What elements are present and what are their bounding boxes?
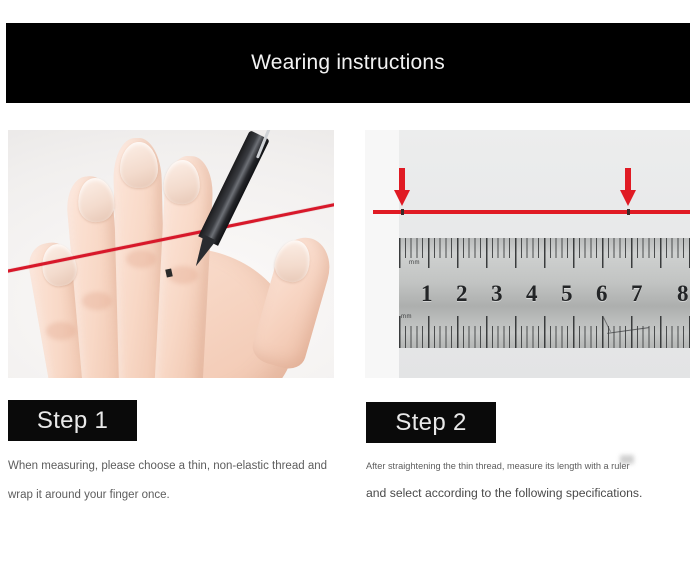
ruler-number-row: 1 2 3 4 5 6 7 8 xyxy=(399,272,690,316)
ruler-unit-label-top: mm xyxy=(409,260,420,266)
arrow-stem xyxy=(625,168,631,192)
step-2-badge-label: Step 2 xyxy=(395,409,466,437)
step-1-column xyxy=(8,130,334,378)
knuckle-crease xyxy=(126,250,156,268)
step-2-caption-line-1: After straightening the thin thread, mea… xyxy=(366,461,630,472)
ruler-number: 2 xyxy=(456,281,468,307)
ruler-number: 4 xyxy=(526,281,538,307)
step-2-column: mm mm 1 2 3 4 5 6 7 8 xyxy=(365,130,690,378)
wearing-instructions-banner: Wearing instructions xyxy=(6,23,690,103)
step-1-caption-line-1: When measuring, please choose a thin, no… xyxy=(8,460,327,474)
thread-endpoint-mark xyxy=(401,209,404,215)
straightened-thread-line xyxy=(373,210,690,214)
step-2-caption-line-2: and select according to the following sp… xyxy=(366,486,642,501)
ruler-number: 5 xyxy=(561,281,573,307)
ruler-major-ticks-top xyxy=(399,238,690,268)
arrow-head xyxy=(620,190,636,206)
arrow-stem xyxy=(399,168,405,192)
step-1-badge-label: Step 1 xyxy=(37,407,108,435)
arrow-down-icon xyxy=(394,168,410,206)
ruler-number: 1 xyxy=(421,281,433,307)
image-artifact xyxy=(620,455,634,464)
ruler-major-ticks-bottom xyxy=(399,316,690,348)
ruler-number: 7 xyxy=(631,281,643,307)
arrow-head xyxy=(394,190,410,206)
ruler-number: 8 xyxy=(677,281,689,307)
page-title: Wearing instructions xyxy=(251,51,445,75)
arrow-down-icon xyxy=(620,168,636,206)
ruler-number: 3 xyxy=(491,281,503,307)
step-2-image: mm mm 1 2 3 4 5 6 7 8 xyxy=(365,130,690,378)
step-1-caption-line-2: wrap it around your finger once. xyxy=(8,489,170,503)
steel-ruler: mm mm 1 2 3 4 5 6 7 8 xyxy=(399,238,690,348)
step-2-badge: Step 2 xyxy=(366,402,496,443)
step-1-badge: Step 1 xyxy=(8,400,137,441)
knuckle-crease xyxy=(82,292,112,310)
knuckle-crease xyxy=(46,322,76,340)
step-1-image xyxy=(8,130,334,378)
fingernail-middle xyxy=(120,142,158,188)
ruler-number: 6 xyxy=(596,281,608,307)
thread-endpoint-mark xyxy=(627,209,630,215)
